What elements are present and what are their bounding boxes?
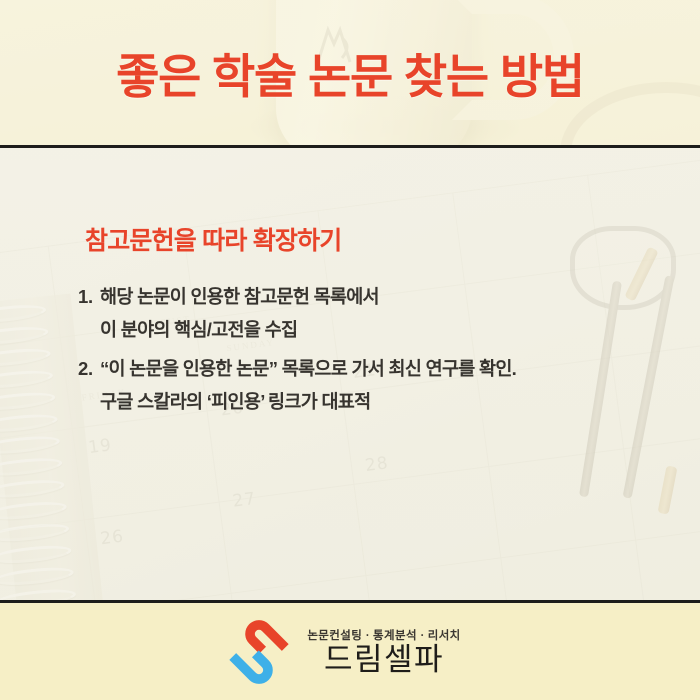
brand-name: 드림셀파 <box>324 644 444 677</box>
content-text-block: 참고문헌을 따라 확장하기 1.해당 논문이 인용한 참고문헌 목록에서이 분야… <box>0 148 700 600</box>
list-item-number: 2. <box>78 352 100 385</box>
list-item: 2.“이 논문을 인용한 논문” 목록으로 가서 최신 연구를 확인.구글 스칼… <box>78 352 658 418</box>
dreamsherpa-logo-icon <box>227 620 291 684</box>
list-item-text: 해당 논문이 인용한 참고문헌 목록에서이 분야의 핵심/고전을 수집 <box>100 280 658 346</box>
list-item: 1.해당 논문이 인용한 참고문헌 목록에서이 분야의 핵심/고전을 수집 <box>78 280 658 346</box>
list-item-line: 이 분야의 핵심/고전을 수집 <box>100 313 658 346</box>
list-item-number: 1. <box>78 280 100 313</box>
brand-lockup: 논문컨설팅 · 통계분석 · 리서치 드림셀파 <box>227 620 460 684</box>
section-subheading: 참고문헌을 따라 확장하기 <box>85 221 342 257</box>
list-item-line: “이 논문을 인용한 논문” 목록으로 가서 최신 연구를 확인. <box>100 352 658 385</box>
list-item-text: “이 논문을 인용한 논문” 목록으로 가서 최신 연구를 확인.구글 스칼라의… <box>100 352 658 418</box>
brand-text-block: 논문컨설팅 · 통계분석 · 리서치 드림셀파 <box>307 627 460 677</box>
steps-list: 1.해당 논문이 인용한 참고문헌 목록에서이 분야의 핵심/고전을 수집2.“… <box>78 280 658 424</box>
infographic-card: 좋은 학술 논문 찾는 방법 192021262728SUNDAYFRIDAYA… <box>0 0 700 700</box>
list-item-line: 구글 스칼라의 ‘피인용’ 링크가 대표적 <box>100 385 658 418</box>
header-banner: 좋은 학술 논문 찾는 방법 <box>0 0 700 145</box>
brand-tagline: 논문컨설팅 · 통계분석 · 리서치 <box>307 627 460 643</box>
main-content-area: 192021262728SUNDAYFRIDAYAUGUST 참고문헌을 따라 … <box>0 148 700 600</box>
list-item-line: 해당 논문이 인용한 참고문헌 목록에서 <box>100 280 658 313</box>
footer-branding-bar: 논문컨설팅 · 통계분석 · 리서치 드림셀파 <box>0 603 700 700</box>
page-title: 좋은 학술 논문 찾는 방법 <box>0 0 700 145</box>
